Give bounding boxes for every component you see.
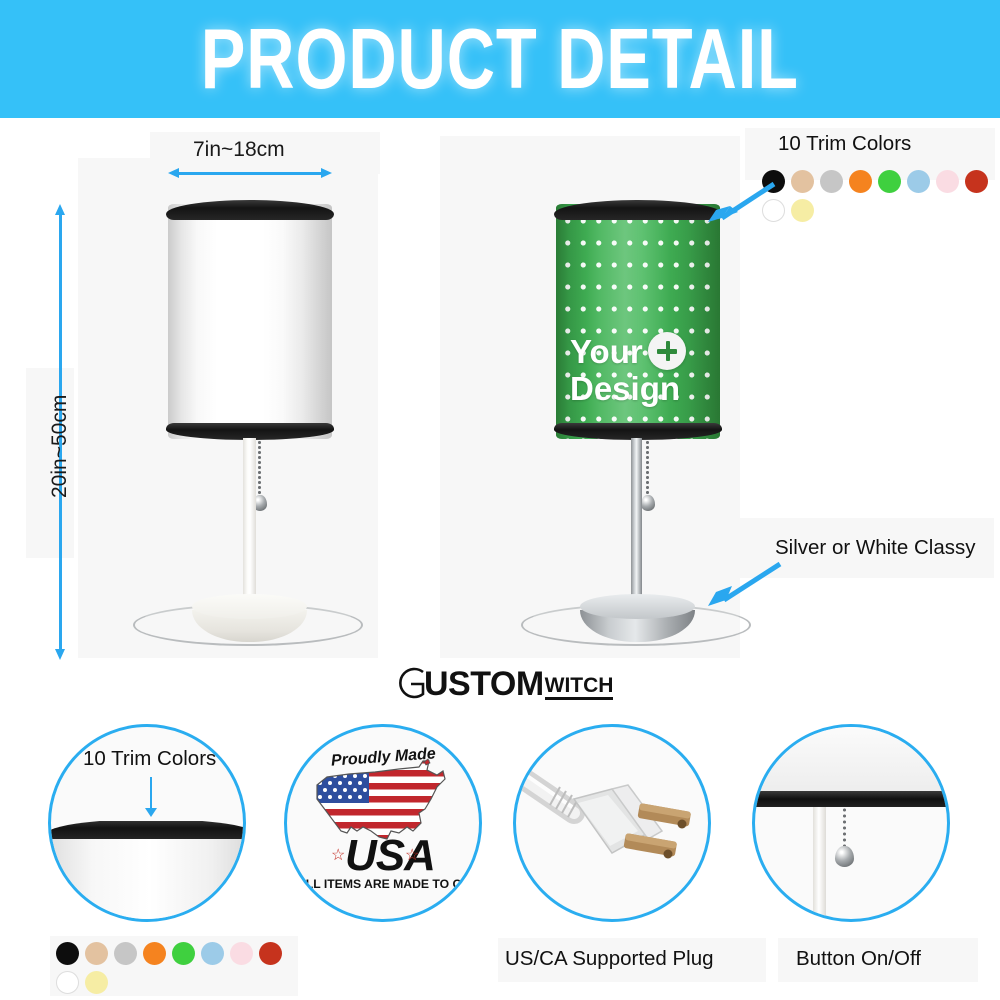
- trim-swatch-orange[interactable]: [143, 942, 166, 965]
- trim-color-swatches-bottom[interactable]: [56, 942, 292, 994]
- usa-badge-headline: USA: [345, 831, 435, 881]
- pole-closeup: [813, 807, 826, 922]
- trim-swatch-white[interactable]: [56, 971, 79, 994]
- trim-swatch-black[interactable]: [56, 942, 79, 965]
- design-line-1: Your: [570, 335, 643, 368]
- product-detail-infographic: PRODUCT DETAIL 7in~18cm 20in~50cm: [0, 0, 1000, 1000]
- trim-swatch-gray[interactable]: [114, 942, 137, 965]
- shade-bottom-closeup: [755, 727, 947, 793]
- pull-chain[interactable]: [258, 440, 261, 498]
- c-swoosh-icon: [392, 666, 426, 700]
- trim-colors-title: 10 Trim Colors: [778, 132, 911, 156]
- pull-chain-closeup[interactable]: [843, 807, 846, 849]
- feature-button-label: Button On/Off: [796, 947, 921, 971]
- lamp-base: [192, 594, 307, 642]
- trim-callout-arrow: [700, 178, 780, 233]
- usa-map-flag-icon: [287, 727, 482, 922]
- star-right-icon: ☆: [405, 845, 419, 865]
- page-title: PRODUCT DETAIL: [201, 10, 799, 107]
- trim-swatch-light-blue[interactable]: [201, 942, 224, 965]
- your-design-placeholder: Your Design: [570, 332, 686, 405]
- lamp-pole: [243, 438, 256, 612]
- brand-logo: USTOM WITCH: [392, 666, 613, 700]
- lamp-shade-blank: [168, 204, 332, 439]
- feature-plug-label: US/CA Supported Plug: [505, 947, 714, 971]
- feature-trim-colors-label: 10 Trim Colors: [83, 747, 216, 771]
- base-finish-label: Silver or White Classy: [775, 536, 976, 560]
- trim-swatch-red[interactable]: [259, 942, 282, 965]
- trim-swatch-yellow[interactable]: [791, 199, 814, 222]
- design-line-2: Design: [570, 372, 680, 405]
- trim-swatch-orange[interactable]: [849, 170, 872, 193]
- shade-closeup-trim: [51, 821, 243, 839]
- brand-name-main: USTOM: [424, 668, 544, 700]
- trim-color-swatches[interactable]: [762, 170, 1000, 222]
- star-left-icon: ☆: [331, 845, 345, 865]
- trim-swatch-light-blue[interactable]: [907, 170, 930, 193]
- down-arrow-icon: [145, 777, 157, 817]
- brand-name-sub: WITCH: [545, 675, 614, 700]
- feature-plug: [513, 724, 711, 922]
- shade-closeup-body: [51, 829, 243, 922]
- lamp-pole: [631, 438, 642, 612]
- lamp-shade-custom[interactable]: Your Design: [556, 204, 720, 439]
- feature-made-in-usa: Proudly Made in the: [284, 724, 482, 922]
- product-stage: 7in~18cm 20in~50cm: [0, 118, 1000, 663]
- lamp-base: [580, 594, 695, 642]
- trim-swatch-tan[interactable]: [791, 170, 814, 193]
- width-dimension-label: 7in~18cm: [193, 138, 285, 162]
- trim-swatch-pink[interactable]: [936, 170, 959, 193]
- feature-button-onoff: [752, 724, 950, 922]
- plus-icon[interactable]: [648, 332, 686, 370]
- trim-swatch-pink[interactable]: [230, 942, 253, 965]
- pull-chain-ball[interactable]: [835, 846, 854, 867]
- trim-swatch-green[interactable]: [878, 170, 901, 193]
- pull-chain[interactable]: [646, 440, 649, 498]
- height-dimension-label: 20in~50cm: [48, 395, 72, 498]
- header-banner: PRODUCT DETAIL: [0, 0, 1000, 118]
- trim-swatch-red[interactable]: [965, 170, 988, 193]
- usa-badge-subtext: ALL ITEMS ARE MADE TO ORDER!: [297, 877, 482, 891]
- trim-swatch-gray[interactable]: [820, 170, 843, 193]
- trim-bar-closeup: [752, 791, 950, 807]
- pull-chain-ball[interactable]: [641, 495, 655, 511]
- usa-badge: Proudly Made in the: [287, 727, 479, 919]
- feature-trim-colors: 10 Trim Colors: [48, 724, 246, 922]
- base-finish-arrow: [700, 558, 786, 615]
- trim-swatch-yellow[interactable]: [85, 971, 108, 994]
- trim-swatch-tan[interactable]: [85, 942, 108, 965]
- width-dimension-arrow: [168, 168, 332, 178]
- trim-swatch-green[interactable]: [172, 942, 195, 965]
- power-plug-icon: [516, 727, 711, 922]
